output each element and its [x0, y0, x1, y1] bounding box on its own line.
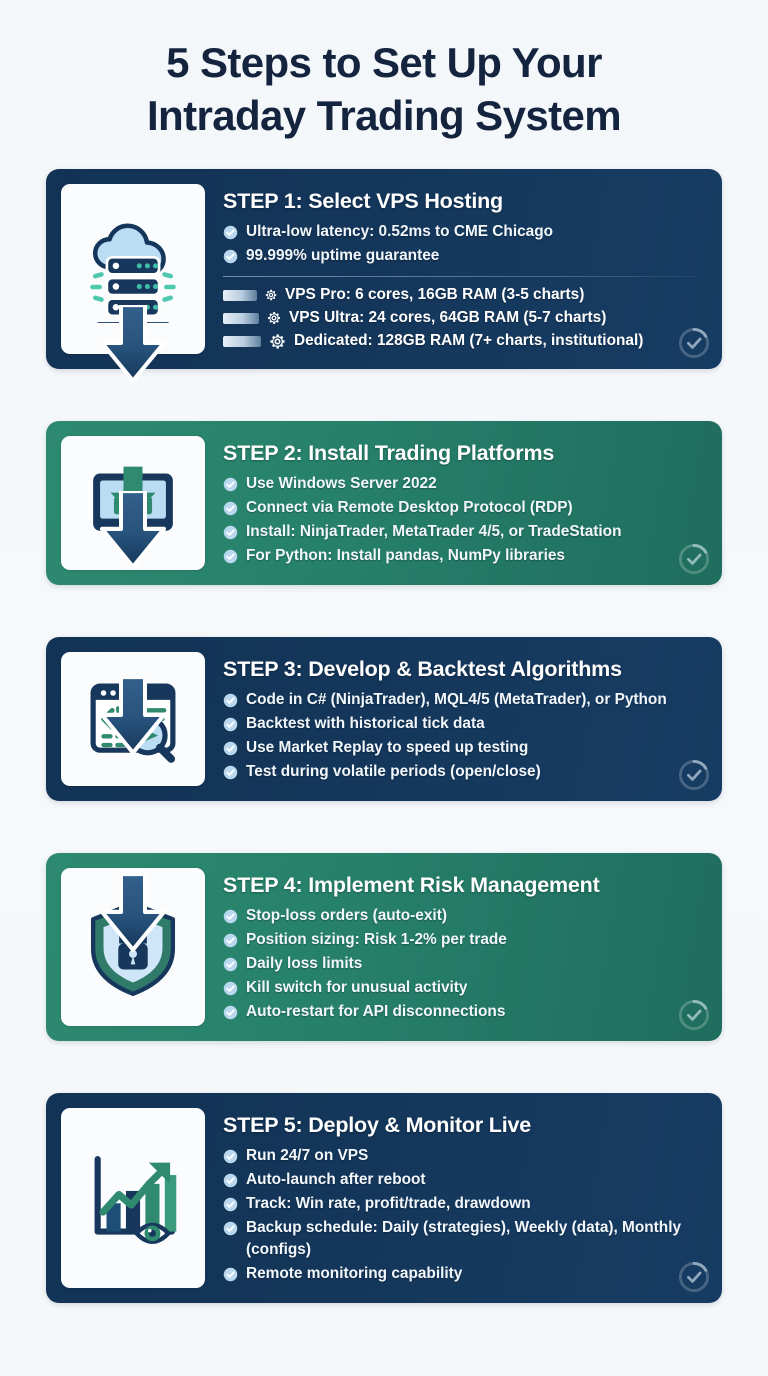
bullet-check-icon	[223, 717, 238, 732]
cloud-server-icon	[79, 215, 187, 323]
bullet-item: Run 24/7 on VPS	[223, 1145, 704, 1167]
tier-label: Dedicated: 128GB RAM (7+ charts, institu…	[294, 330, 643, 352]
bullet-check-icon	[223, 549, 238, 564]
step-card-1[interactable]: STEP 1: Select VPS Hosting Ultra-low lat…	[46, 169, 722, 369]
bullet-item: Position sizing: Risk 1-2% per trade	[223, 929, 704, 951]
gear-icon	[266, 310, 282, 326]
step-card-2[interactable]: STEP 2: Install Trading Platforms Use Wi…	[46, 421, 722, 585]
step-bullets-2: Use Windows Server 2022 Connect via Remo…	[223, 473, 704, 567]
bullet-text: Daily loss limits	[246, 953, 362, 975]
growth-chart-eye-icon	[80, 1145, 186, 1251]
bullet-check-icon	[223, 981, 238, 996]
check-progress-icon	[677, 758, 711, 792]
bullet-item: Stop-loss orders (auto-exit)	[223, 905, 704, 927]
bullet-check-icon	[223, 1173, 238, 1188]
monitor-download-icon	[81, 451, 185, 555]
step-icon-tile-1	[61, 184, 205, 354]
step-body-1: STEP 1: Select VPS Hosting Ultra-low lat…	[205, 169, 722, 369]
step-title-4: STEP 4: Implement Risk Management	[223, 872, 704, 898]
bullet-text: 99.999% uptime guarantee	[246, 245, 439, 267]
infographic-page: 5 Steps to Set Up Your Intraday Trading …	[0, 0, 768, 1376]
gear-icon	[264, 288, 278, 302]
bullet-item: Track: Win rate, profit/trade, drawdown	[223, 1193, 704, 1215]
page-title: 5 Steps to Set Up Your Intraday Trading …	[0, 0, 768, 142]
bullet-item: For Python: Install pandas, NumPy librar…	[223, 545, 704, 567]
bullet-check-icon	[223, 525, 238, 540]
step-title-5: STEP 5: Deploy & Monitor Live	[223, 1112, 704, 1138]
bullet-item: Backtest with historical tick data	[223, 713, 704, 735]
bullet-check-icon	[223, 249, 238, 264]
bullet-check-icon	[223, 693, 238, 708]
shield-lock-icon	[81, 895, 185, 999]
bullet-check-icon	[223, 1149, 238, 1164]
step-icon-tile-3	[61, 652, 205, 786]
bullet-item: Auto-launch after reboot	[223, 1169, 704, 1191]
step-icon-tile-5	[61, 1108, 205, 1288]
bullet-check-icon	[223, 225, 238, 240]
check-progress-icon	[677, 998, 711, 1032]
bullet-check-icon	[223, 1173, 238, 1188]
tier-level-bar	[223, 336, 261, 347]
step-card-5[interactable]: STEP 5: Deploy & Monitor Live Run 24/7 o…	[46, 1093, 722, 1303]
bullet-item: Install: NinjaTrader, MetaTrader 4/5, or…	[223, 521, 704, 543]
steps-list: STEP 1: Select VPS Hosting Ultra-low lat…	[0, 169, 768, 1303]
bullet-check-icon	[223, 909, 238, 924]
bullet-text: Ultra-low latency: 0.52ms to CME Chicago	[246, 221, 553, 243]
bullet-check-icon	[223, 477, 238, 492]
bullet-check-icon	[223, 717, 238, 732]
page-title-line-1: 5 Steps to Set Up Your	[40, 36, 728, 89]
bullet-check-icon	[223, 909, 238, 924]
bullet-item: Daily loss limits	[223, 953, 704, 975]
bullet-check-icon	[223, 225, 238, 240]
step-title-2: STEP 2: Install Trading Platforms	[223, 440, 704, 466]
step-bullets-5: Run 24/7 on VPS Auto-launch after reboot…	[223, 1145, 704, 1285]
step-bullets-4: Stop-loss orders (auto-exit) Position si…	[223, 905, 704, 1023]
step-body-4: STEP 4: Implement Risk Management Stop-l…	[205, 853, 722, 1041]
bullet-check-icon	[223, 1197, 238, 1212]
bullet-check-icon	[223, 1197, 238, 1212]
vps-tier-row: VPS Pro: 6 cores, 16GB RAM (3-5 charts)	[223, 284, 704, 306]
page-title-line-2: Intraday Trading System	[40, 89, 728, 142]
step-complete-badge[interactable]	[677, 542, 711, 576]
tier-level-bar	[223, 290, 257, 301]
step-bullets-3: Code in C# (NinjaTrader), MQL4/5 (MetaTr…	[223, 689, 704, 783]
bullet-item: 99.999% uptime guarantee	[223, 245, 704, 267]
bullet-text: Auto-restart for API disconnections	[246, 1001, 505, 1023]
bullet-text: Run 24/7 on VPS	[246, 1145, 368, 1167]
tier-level-bar	[223, 313, 259, 324]
step-icon-tile-2	[61, 436, 205, 570]
vps-tier-list: VPS Pro: 6 cores, 16GB RAM (3-5 charts) …	[223, 284, 704, 352]
step-card-3[interactable]: STEP 3: Develop & Backtest Algorithms Co…	[46, 637, 722, 801]
section-divider	[223, 276, 700, 277]
bullet-item: Test during volatile periods (open/close…	[223, 761, 704, 783]
step-body-5: STEP 5: Deploy & Monitor Live Run 24/7 o…	[205, 1093, 722, 1303]
step-bullets-1: Ultra-low latency: 0.52ms to CME Chicago…	[223, 221, 704, 267]
bullet-item: Backup schedule: Daily (strategies), Wee…	[223, 1217, 704, 1261]
bullet-text: Use Windows Server 2022	[246, 473, 437, 495]
bullet-item: Remote monitoring capability	[223, 1263, 704, 1285]
step-card-4[interactable]: STEP 4: Implement Risk Management Stop-l…	[46, 853, 722, 1041]
check-progress-icon	[677, 542, 711, 576]
bullet-check-icon	[223, 1221, 238, 1236]
step-complete-badge[interactable]	[677, 758, 711, 792]
bullet-text: Kill switch for unusual activity	[246, 977, 468, 999]
bullet-item: Auto-restart for API disconnections	[223, 1001, 704, 1023]
step-complete-badge[interactable]	[677, 326, 711, 360]
bullet-item: Use Windows Server 2022	[223, 473, 704, 495]
step-body-2: STEP 2: Install Trading Platforms Use Wi…	[205, 421, 722, 585]
bullet-check-icon	[223, 957, 238, 972]
bullet-check-icon	[223, 501, 238, 516]
bullet-check-icon	[223, 1005, 238, 1020]
tier-label: VPS Ultra: 24 cores, 64GB RAM (5-7 chart…	[289, 307, 606, 329]
bullet-check-icon	[223, 957, 238, 972]
step-complete-badge[interactable]	[677, 1260, 711, 1294]
bullet-check-icon	[223, 693, 238, 708]
bullet-check-icon	[223, 1267, 238, 1282]
bullet-item: Code in C# (NinjaTrader), MQL4/5 (MetaTr…	[223, 689, 704, 711]
check-progress-icon	[677, 326, 711, 360]
bullet-check-icon	[223, 501, 238, 516]
bullet-check-icon	[223, 249, 238, 264]
bullet-check-icon	[223, 477, 238, 492]
bullet-text: Position sizing: Risk 1-2% per trade	[246, 929, 507, 951]
step-title-1: STEP 1: Select VPS Hosting	[223, 188, 704, 214]
bullet-check-icon	[223, 1221, 238, 1236]
bullet-check-icon	[223, 765, 238, 780]
check-progress-icon	[677, 1260, 711, 1294]
bullet-text: Stop-loss orders (auto-exit)	[246, 905, 447, 927]
bullet-check-icon	[223, 1267, 238, 1282]
vps-tier-row: Dedicated: 128GB RAM (7+ charts, institu…	[223, 330, 704, 352]
bullet-check-icon	[223, 1005, 238, 1020]
bullet-text: Use Market Replay to speed up testing	[246, 737, 528, 759]
bullet-check-icon	[223, 741, 238, 756]
step-title-3: STEP 3: Develop & Backtest Algorithms	[223, 656, 704, 682]
bullet-text: Backup schedule: Daily (strategies), Wee…	[246, 1217, 704, 1261]
bullet-check-icon	[223, 933, 238, 948]
bullet-text: Test during volatile periods (open/close…	[246, 761, 541, 783]
code-window-magnifier-icon	[81, 667, 185, 771]
bullet-text: Backtest with historical tick data	[246, 713, 485, 735]
bullet-text: Install: NinjaTrader, MetaTrader 4/5, or…	[246, 521, 621, 543]
gear-icon	[268, 332, 287, 351]
bullet-check-icon	[223, 549, 238, 564]
bullet-item: Connect via Remote Desktop Protocol (RDP…	[223, 497, 704, 519]
bullet-text: For Python: Install pandas, NumPy librar…	[246, 545, 565, 567]
vps-tier-row: VPS Ultra: 24 cores, 64GB RAM (5-7 chart…	[223, 307, 704, 329]
step-icon-tile-4	[61, 868, 205, 1026]
bullet-text: Remote monitoring capability	[246, 1263, 462, 1285]
step-body-3: STEP 3: Develop & Backtest Algorithms Co…	[205, 637, 722, 801]
bullet-text: Track: Win rate, profit/trade, drawdown	[246, 1193, 531, 1215]
bullet-text: Connect via Remote Desktop Protocol (RDP…	[246, 497, 573, 519]
bullet-check-icon	[223, 765, 238, 780]
bullet-item: Kill switch for unusual activity	[223, 977, 704, 999]
bullet-text: Code in C# (NinjaTrader), MQL4/5 (MetaTr…	[246, 689, 667, 711]
bullet-item: Ultra-low latency: 0.52ms to CME Chicago	[223, 221, 704, 243]
bullet-check-icon	[223, 741, 238, 756]
bullet-check-icon	[223, 933, 238, 948]
bullet-check-icon	[223, 1149, 238, 1164]
bullet-check-icon	[223, 981, 238, 996]
tier-label: VPS Pro: 6 cores, 16GB RAM (3-5 charts)	[285, 284, 584, 306]
bullet-item: Use Market Replay to speed up testing	[223, 737, 704, 759]
step-complete-badge[interactable]	[677, 998, 711, 1032]
bullet-text: Auto-launch after reboot	[246, 1169, 426, 1191]
bullet-check-icon	[223, 525, 238, 540]
